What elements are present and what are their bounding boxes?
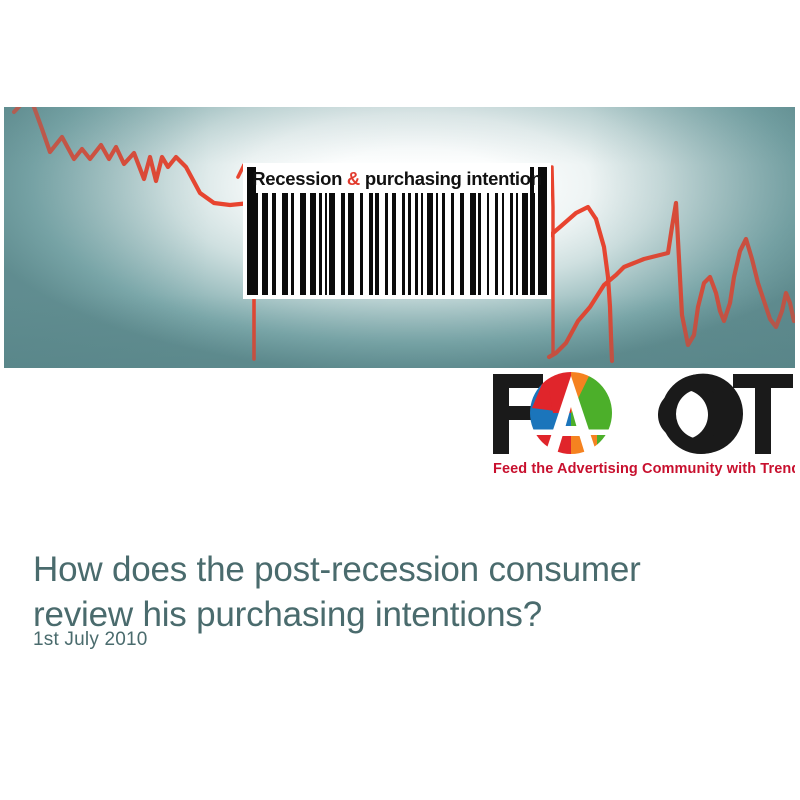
- page-title-line-1: How does the post-recession consumer: [33, 550, 641, 589]
- fact-letter-a-wheel: [530, 372, 613, 458]
- barcode-title: Recession & purchasing intention: [243, 167, 551, 191]
- barcode-title-ampersand: &: [347, 168, 360, 189]
- barcode-bars: [247, 193, 547, 295]
- barcode-graphic: Recession & purchasing intention: [243, 163, 551, 299]
- barcode-title-word1: Recession: [252, 168, 342, 189]
- date-label: 1st July 2010: [33, 628, 148, 652]
- barcode-title-word2: purchasing intention: [365, 168, 542, 189]
- fact-letter-c: [658, 374, 743, 454]
- recession-banner-image: Recession & purchasing intention: [4, 107, 795, 368]
- fact-logo: Feed the Advertising Community with Tren…: [487, 368, 795, 478]
- barcode-space: [545, 193, 551, 295]
- fact-tagline: Feed the Advertising Community with Tren…: [493, 461, 795, 477]
- page-title: How does the post-recession consumer rev…: [33, 547, 763, 637]
